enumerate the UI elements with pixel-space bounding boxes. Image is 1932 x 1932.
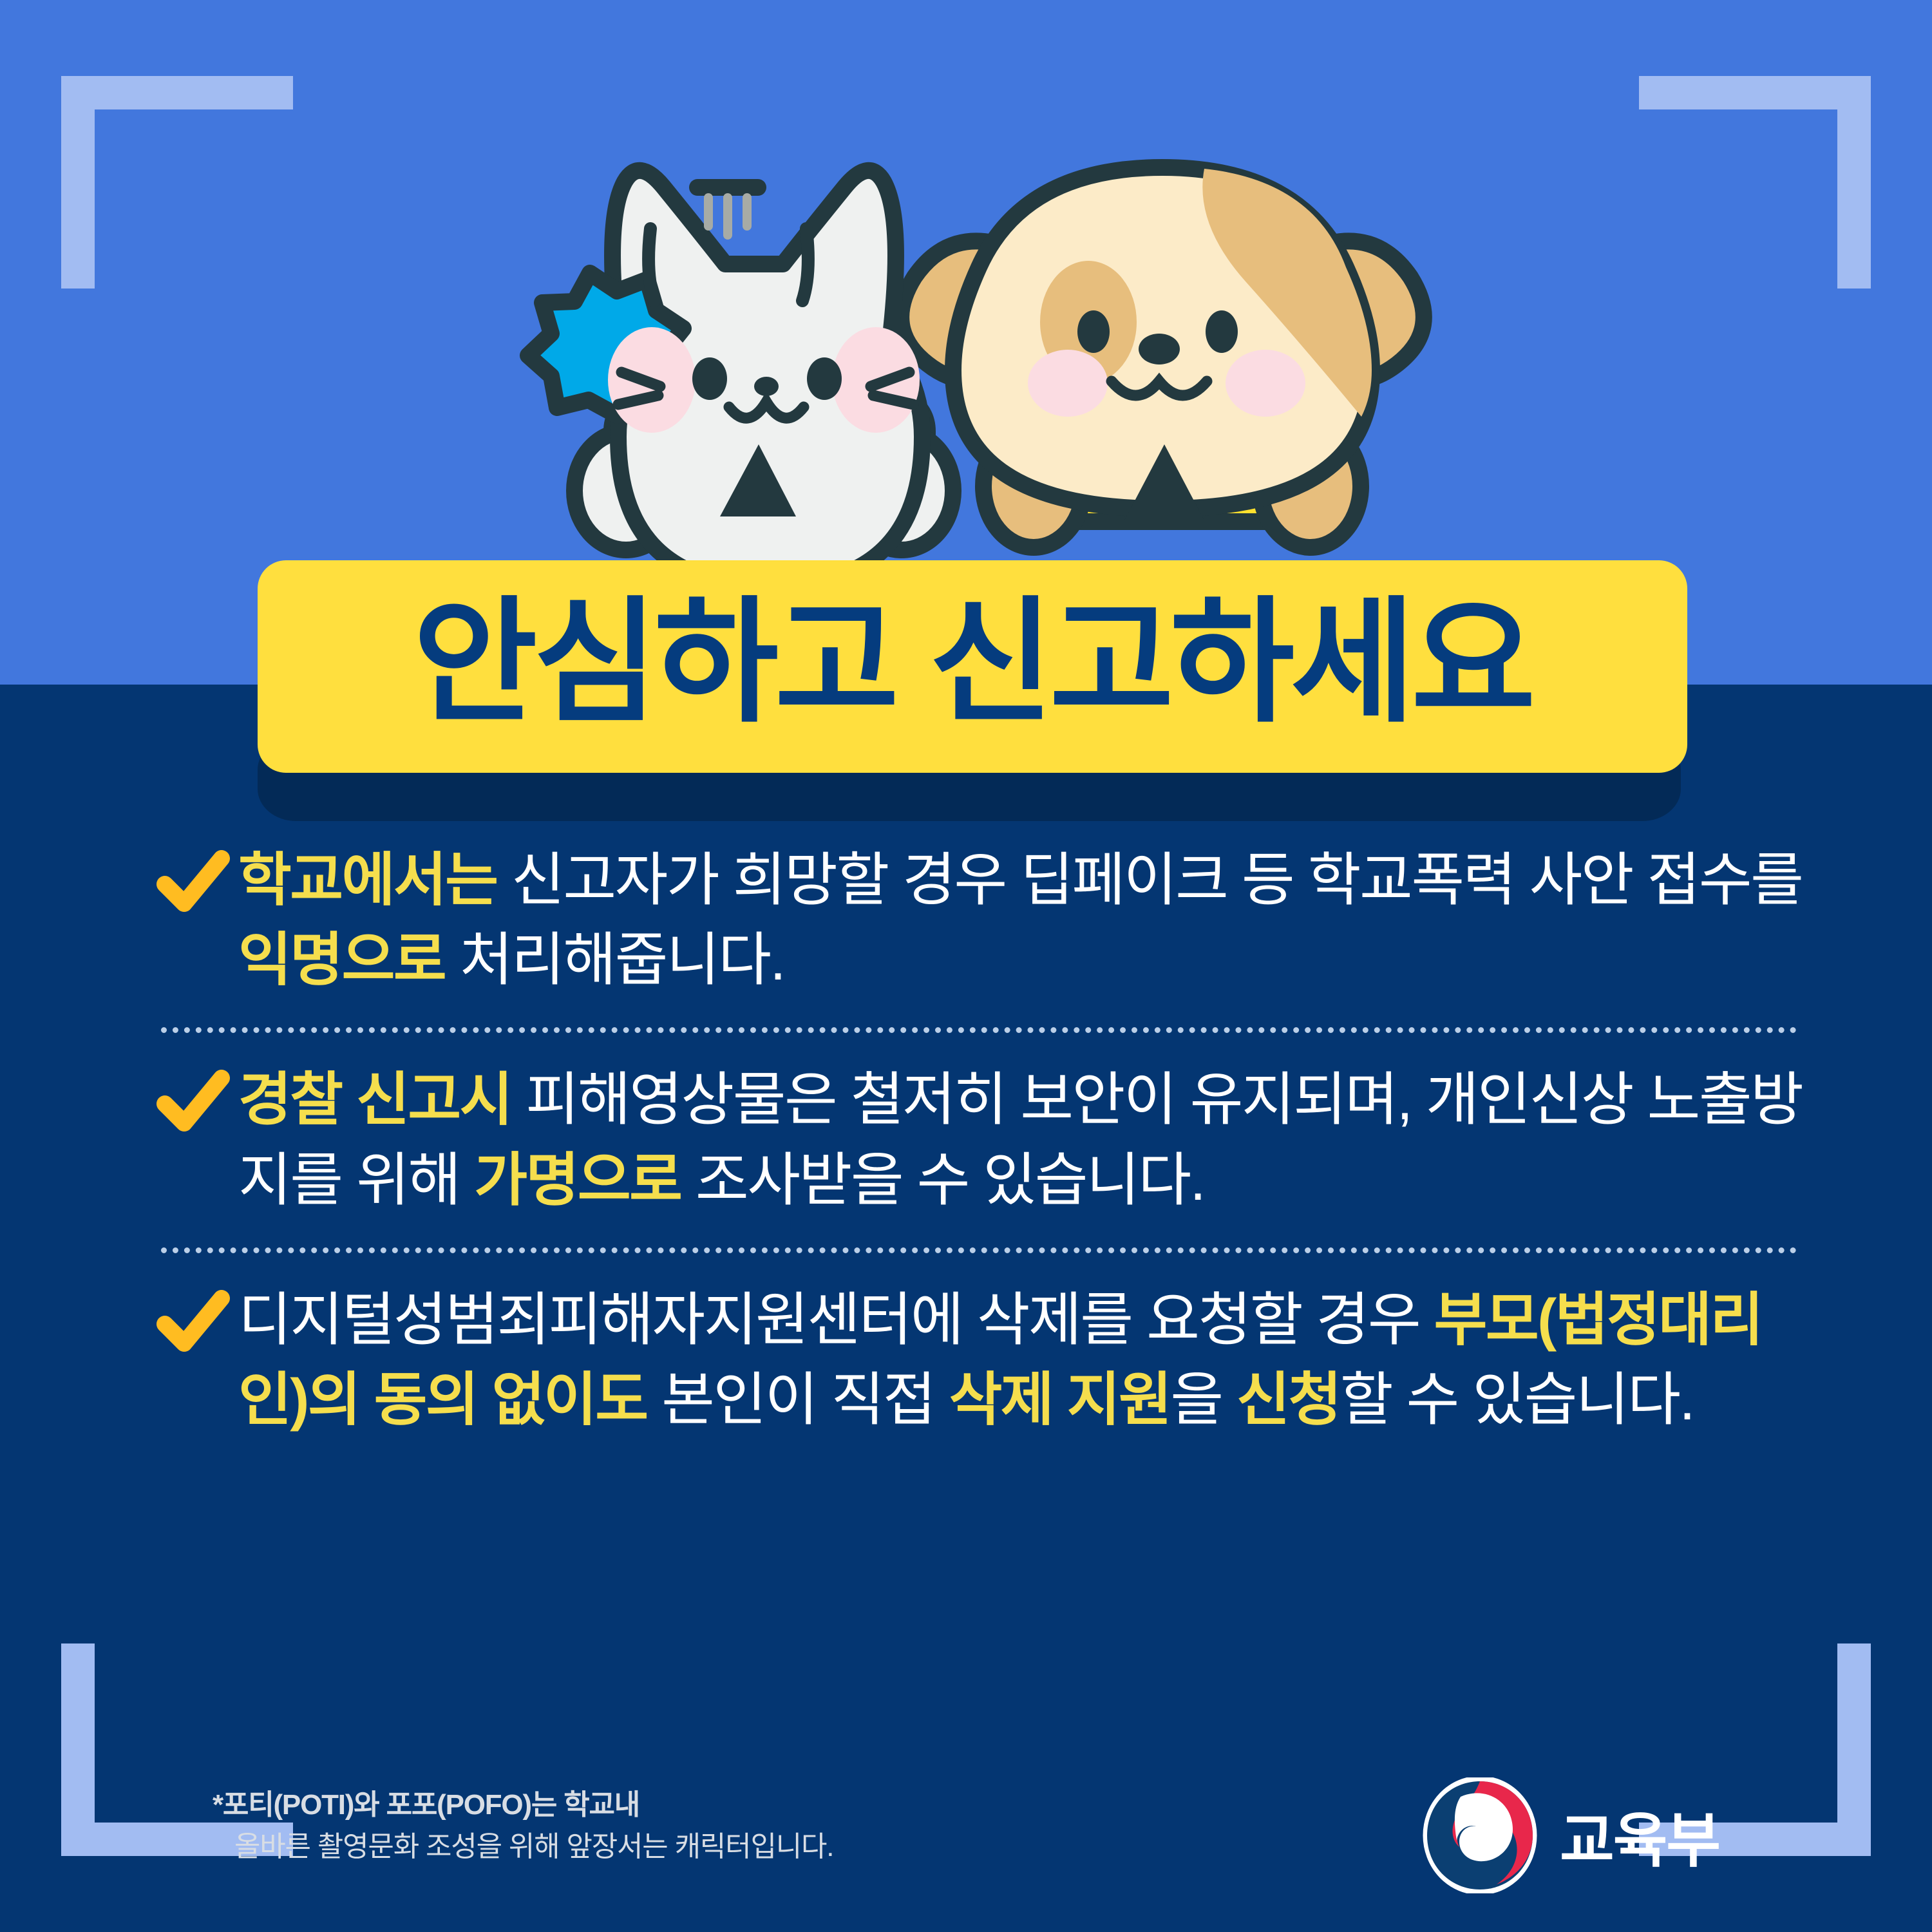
plain-phrase: 을 [1170,1368,1236,1432]
page-title: 안심하고 신고하세요 [413,595,1531,730]
bullet-text-2: 경찰 신고시 피해영상물은 철저히 보안이 유지되며, 개인신상 노출방지를 위… [238,1060,1803,1220]
bracket-horizontal-bar [1639,76,1871,109]
highlighted-phrase: 경찰 신고시 [238,1068,526,1132]
highlighted-phrase: 익명으로 [238,928,445,992]
highlighted-phrase: 삭제 지원 [949,1368,1171,1432]
mascot-illustration [489,129,1455,592]
corner-bracket-top-right [1639,76,1871,289]
plain-phrase: 디지털성범죄피해자지원센터에 삭제를 요청할 경우 [238,1288,1434,1352]
highlighted-phrase: 학교에서는 [238,848,511,913]
bullet-list: 학교에서는 신고자가 희망할 경우 딥페이크 등 학교폭력 사안 접수를 익명으… [155,840,1803,1440]
footer-note: *포티(POTI)와 포포(POFO)는 학교내 올바른 촬영문화 조성을 위해… [213,1784,833,1868]
plain-phrase: 할 수 있습니다. [1340,1368,1694,1432]
bracket-vertical-bar [61,1643,95,1856]
bracket-horizontal-bar [61,76,293,109]
list-item: 디지털성범죄피해자지원센터에 삭제를 요청할 경우 부모(법정대리인)의 동의 … [155,1280,1803,1440]
taegeuk-icon [1422,1777,1538,1893]
footer-note-line-1: *포티(POTI)와 포포(POFO)는 학교내 [213,1789,639,1821]
ministry-logo: 교육부 [1422,1777,1719,1893]
bracket-vertical-bar [1837,1643,1871,1856]
footer-note-line-2: 올바른 촬영문화 조성을 위해 앞장서는 캐릭터입니다. [213,1826,833,1868]
title-banner: 안심하고 신고하세요 [258,560,1687,773]
corner-bracket-top-left [61,76,293,289]
bracket-vertical-bar [61,76,95,289]
highlighted-phrase: 가명으로 [474,1148,681,1213]
plain-phrase: 본인이 직접 [647,1368,949,1432]
bracket-vertical-bar [1837,76,1871,289]
divider [161,1027,1797,1033]
divider [161,1247,1797,1253]
poster-card: 안심하고 신고하세요 학교에서는 신고자가 희망할 경우 딥페이크 등 학교폭력… [0,0,1932,1932]
bullet-text-3: 디지털성범죄피해자지원센터에 삭제를 요청할 경우 부모(법정대리인)의 동의 … [238,1280,1803,1440]
check-icon [155,1287,232,1358]
list-item: 경찰 신고시 피해영상물은 철저히 보안이 유지되며, 개인신상 노출방지를 위… [155,1060,1803,1220]
check-icon [155,1066,232,1137]
plain-phrase: 처리해줍니다. [445,928,784,992]
bullet-text-1: 학교에서는 신고자가 희망할 경우 딥페이크 등 학교폭력 사안 접수를 익명으… [238,840,1803,1000]
plain-phrase: 조사받을 수 있습니다. [681,1148,1204,1213]
list-item: 학교에서는 신고자가 희망할 경우 딥페이크 등 학교폭력 사안 접수를 익명으… [155,840,1803,1000]
ministry-label: 교육부 [1560,1793,1719,1879]
plain-phrase: 신고자가 희망할 경우 딥페이크 등 학교폭력 사안 접수를 [511,848,1802,913]
highlighted-phrase: 신청 [1236,1368,1340,1432]
check-icon [155,847,232,918]
